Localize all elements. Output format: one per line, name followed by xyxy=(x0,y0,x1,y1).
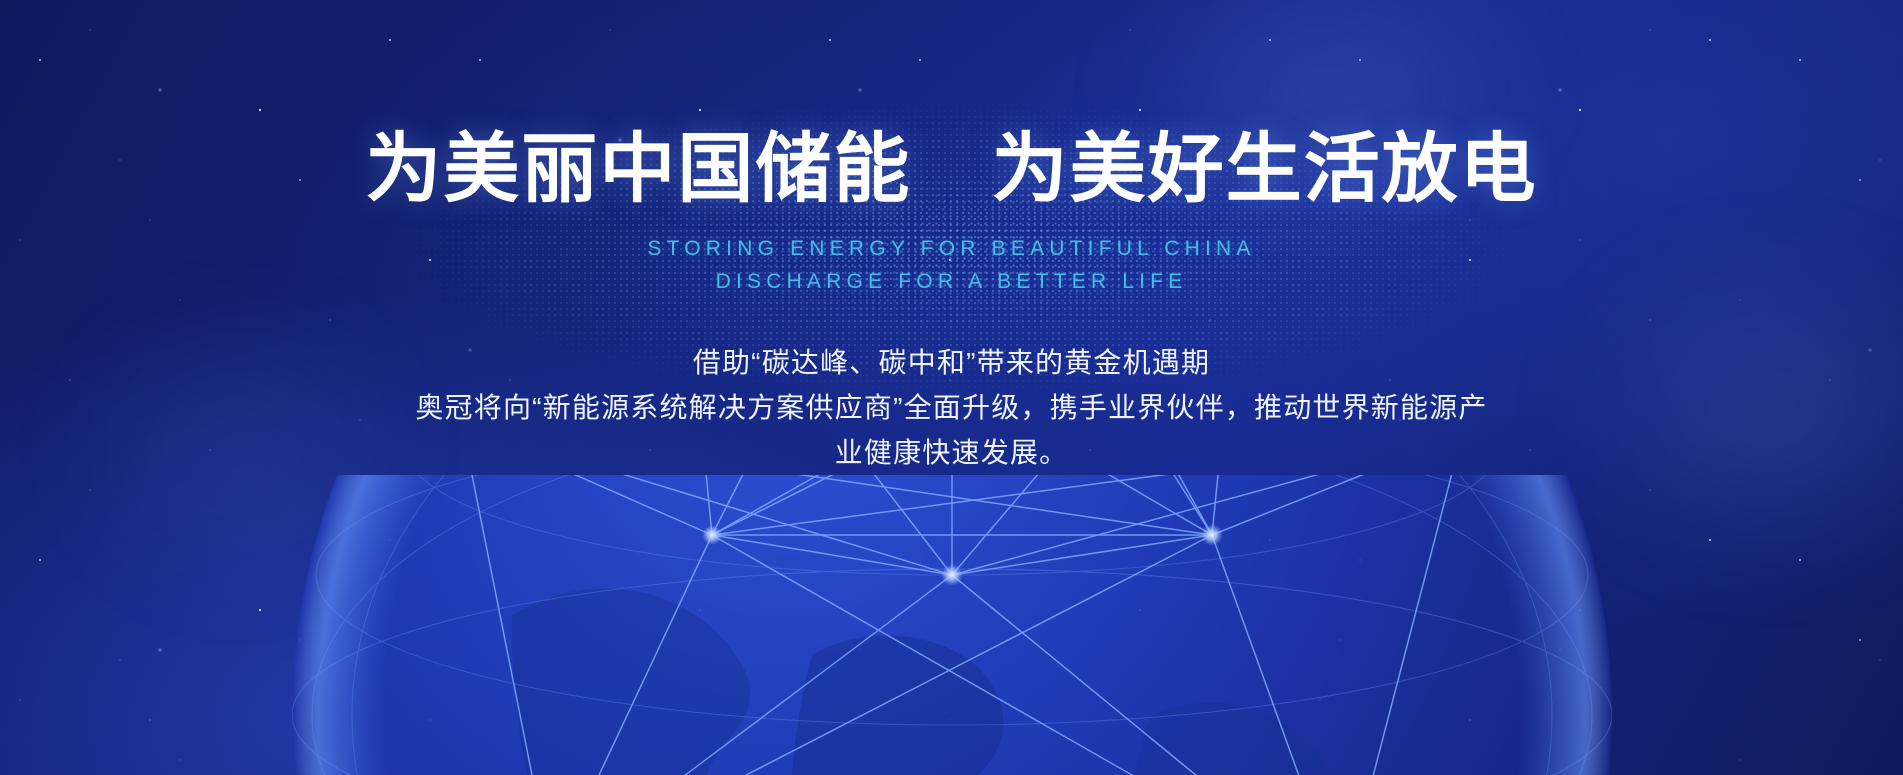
subtitle-english: STORING ENERGY FOR BEAUTIFUL CHINA DISCH… xyxy=(0,232,1903,298)
globe-network-mesh xyxy=(462,475,1462,775)
globe-rim-glow xyxy=(292,475,1612,775)
hero-banner: 为美丽中国储能 为美好生活放电 STORING ENERGY FOR BEAUT… xyxy=(0,0,1903,775)
network-globe-graphic xyxy=(0,475,1903,775)
body-copy: 借助“碳达峰、碳中和”带来的黄金机遇期 奥冠将向“新能源系统解决方案供应商”全面… xyxy=(0,340,1903,475)
body-line-3: 业健康快速发展。 xyxy=(0,430,1903,475)
headline: 为美丽中国储能 为美好生活放电 xyxy=(0,128,1903,212)
globe-continents xyxy=(511,588,1330,775)
banner-content: 为美丽中国储能 为美好生活放电 STORING ENERGY FOR BEAUT… xyxy=(0,0,1903,475)
globe-sphere xyxy=(292,475,1612,775)
body-line-2: 奥冠将向“新能源系统解决方案供应商”全面升级，携手业界伙伴，推动世界新能源产 xyxy=(0,385,1903,430)
globe-latitude-lines xyxy=(292,475,1612,775)
subtitle-line-2: DISCHARGE FOR A BETTER LIFE xyxy=(0,265,1903,298)
body-line-1: 借助“碳达峰、碳中和”带来的黄金机遇期 xyxy=(0,340,1903,385)
globe-network-nodes xyxy=(451,475,1474,775)
globe-svg xyxy=(252,475,1652,775)
headline-part-1: 为美丽中国储能 xyxy=(365,127,911,212)
subtitle-line-1: STORING ENERGY FOR BEAUTIFUL CHINA xyxy=(0,232,1903,265)
headline-part-2: 为美好生活放电 xyxy=(992,127,1538,212)
